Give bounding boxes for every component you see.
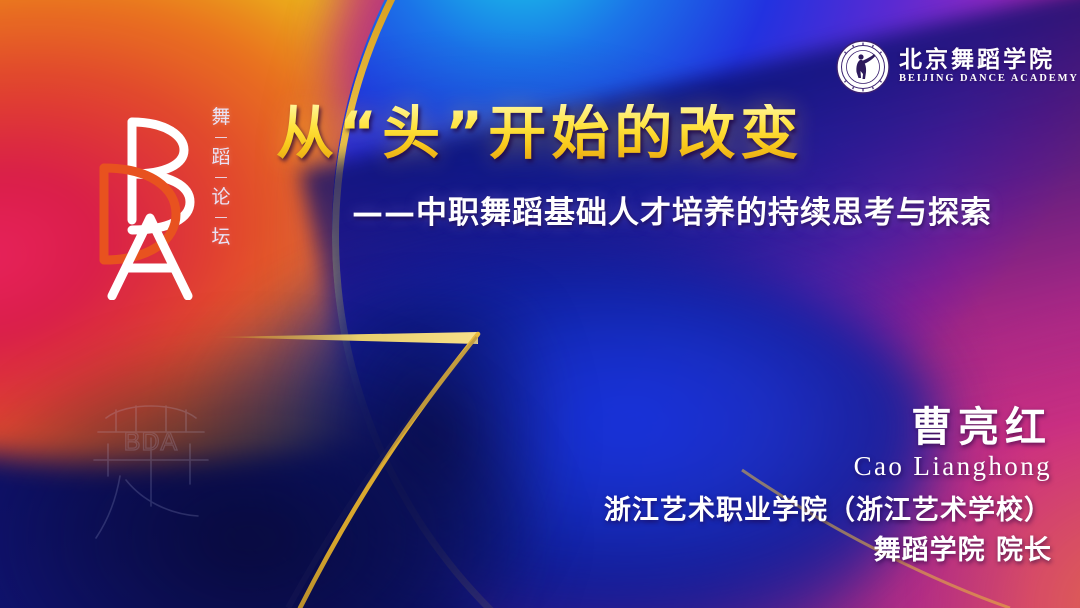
- speaker-organization: 浙江艺术职业学院（浙江艺术学校）: [604, 491, 1052, 530]
- academy-name-cn: 北京舞蹈学院: [899, 49, 1079, 72]
- bda-forum-logo: 舞 蹈 论 坛: [88, 92, 256, 304]
- slide-main-title: 从“头”开始的改变: [276, 104, 803, 162]
- forum-char-4: 坛: [211, 228, 230, 247]
- bda-monogram-icon: [88, 92, 200, 300]
- slide-subtitle: ——中职舞蹈基础人才培养的持续思考与探索: [352, 198, 992, 229]
- academy-name-group: 北京舞蹈学院 BEIJING DANCE ACADEMY: [899, 49, 1079, 85]
- background-bottom-shadow: [0, 328, 560, 608]
- speaker-name-pinyin: Cao Lianghong: [604, 450, 1052, 482]
- academy-name-en: BEIJING DANCE ACADEMY: [899, 74, 1079, 85]
- forum-vertical-title: 舞 蹈 论 坛: [206, 108, 236, 247]
- dance-character-watermark: BDA: [86, 388, 216, 543]
- beijing-dance-academy-logo: 北京舞蹈学院 BEIJING DANCE ACADEMY: [836, 40, 1079, 94]
- presentation-title-slide: BDA 舞 蹈 论 坛: [0, 0, 1080, 608]
- dancer-seal-icon: [836, 40, 890, 94]
- background-blue-streak: [280, 300, 580, 608]
- forum-separator-3: [215, 217, 227, 218]
- forum-separator-1: [215, 137, 227, 138]
- forum-char-3: 论: [211, 188, 230, 207]
- speaker-info-block: 曹亮红 Cao Lianghong 浙江艺术职业学院（浙江艺术学校） 舞蹈学院 …: [604, 406, 1052, 570]
- forum-char-1: 舞: [211, 108, 230, 127]
- forum-char-2: 蹈: [211, 148, 230, 167]
- forum-separator-2: [215, 177, 227, 178]
- speaker-name: 曹亮红: [604, 406, 1052, 449]
- watermark-bda-text: BDA: [124, 428, 178, 456]
- speaker-role: 舞蹈学院 院长: [604, 531, 1052, 570]
